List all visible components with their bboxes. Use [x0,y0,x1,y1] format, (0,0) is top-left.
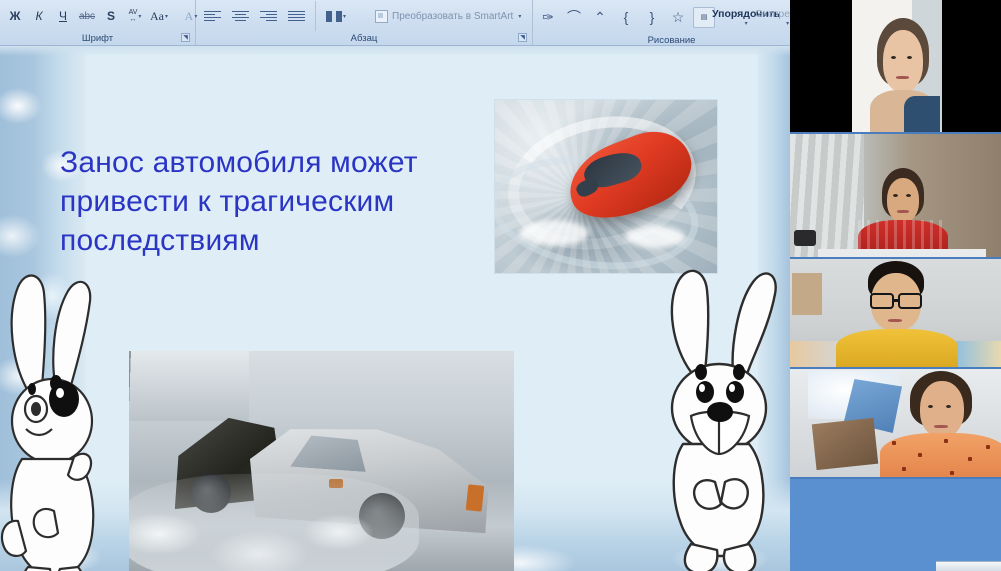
chevron-down-icon: ▾ [138,13,141,20]
video-tile-participant-4[interactable] [790,369,1001,479]
video-tile-participant-2[interactable] [790,134,1001,259]
powerpoint-ribbon: Ж К Ч abc S AV↔ ▾ Aa ▾ [0,0,810,46]
photo-crashed-car-in-snow[interactable] [129,351,514,571]
justify-button[interactable] [284,6,309,27]
right-brace-shape-button[interactable]: } [641,7,663,28]
arc-shape-icon: ⌃ [594,10,606,24]
participant-3-glasses-bridge [894,299,898,302]
align-center-icon [232,10,249,23]
participant-4-eye-left [928,405,933,408]
tile2-dark-object [794,230,816,246]
convert-to-smartart-label: Преобразовать в SmartArt [392,11,513,22]
tile3-furniture [792,273,822,315]
participant-2-mouth [897,210,909,213]
taskbar-strip[interactable] [936,561,1001,571]
ribbon-group-paragraph: ▾ Преобразовать в SmartArt ▾ Абзац ◥ [196,0,533,46]
video-tile-participant-3[interactable] [790,259,1001,369]
participant-2-eye-left [893,194,898,197]
participant-2-face [887,178,919,222]
scribble-shape-button[interactable]: ✑ [537,7,559,28]
arc-shape-button[interactable]: ⌃ [589,7,611,28]
columns-button[interactable]: ▾ [322,6,350,27]
tile4-cardboard-box [812,418,878,470]
snow-spray-1 [519,220,589,246]
curve-shape-button[interactable]: ⌒ [563,7,585,28]
italic-button[interactable]: К [28,6,50,27]
ribbon-group-drawing: ✑ ⌒ ⌃ { } ☆ [533,0,810,46]
participant-4-shirt-dots [880,433,1001,479]
participant-3-yellow-shirt [836,329,958,369]
bold-button[interactable]: Ж [4,6,26,27]
participant-1-shirt [904,96,940,134]
bunny-smiling-right [655,268,783,571]
participant-3-mouth [888,319,902,322]
bunny-thinking-illustration [0,271,108,571]
drawing-toolbar: ✑ ⌒ ⌃ { } ☆ [533,0,810,34]
participant-4-face [920,381,964,437]
video-tile-participant-1[interactable] [790,0,1001,134]
video-conference-panel [790,0,1001,571]
scribble-shape-icon: ✑ [542,10,554,24]
columns-icon [326,10,342,23]
participant-2-eye-right [906,194,911,197]
participant-4-eye-right [946,405,951,408]
justify-icon [288,10,305,23]
font-dialog-launcher-icon[interactable]: ◥ [181,33,190,42]
curve-shape-icon: ⌒ [567,10,581,24]
ribbon-group-label-font: Шрифт ◥ [0,32,195,46]
bunny-thinking-left [0,271,108,571]
ribbon-group-label-drawing: Рисование [533,34,810,46]
slide-title-line-1: Занос автомобиля может [60,143,480,182]
participant-1-eye-left [891,56,896,59]
participant-3-avatar [854,261,940,369]
align-left-icon [204,10,221,23]
ribbon-group-label-paragraph: Абзац ◥ [196,32,532,46]
underline-button[interactable]: Ч [52,6,74,27]
slide-canvas[interactable]: Занос автомобиля может привести к трагич… [0,46,790,571]
character-spacing-button[interactable]: AV↔ ▾ [124,6,146,27]
paragraph-toolbar: ▾ Преобразовать в SmartArt ▾ [196,0,532,32]
participant-3-glasses-left-lens [870,293,894,309]
left-brace-shape-button[interactable]: { [615,7,637,28]
chevron-down-icon: ▾ [165,13,168,20]
participant-4-avatar [902,371,998,479]
snow-foreground [129,474,419,571]
ribbon-group-font: Ж К Ч abc S AV↔ ▾ Aa ▾ [0,0,196,46]
star-shape-icon: ☆ [672,10,685,24]
participant-1-avatar [874,18,932,134]
video-panel-empty-area [790,479,1001,571]
participant-1-face [883,30,923,92]
character-spacing-icon: AV↔ [129,9,138,23]
left-brace-shape-icon: { [624,10,629,24]
align-right-icon [260,10,277,23]
car-tail-light [466,484,485,512]
change-case-button[interactable]: Aa ▾ [148,6,170,27]
smartart-icon [375,10,388,23]
participant-3-glasses-right-lens [898,293,922,309]
align-left-button[interactable] [200,6,225,27]
font-format-toolbar: Ж К Ч abc S AV↔ ▾ Aa ▾ [0,0,195,32]
participant-1-mouth [896,76,909,79]
align-right-button[interactable] [256,6,281,27]
participant-1-eye-right [907,56,912,59]
toolbar-divider [315,1,316,31]
participant-2-avatar [868,168,938,259]
bunny-smiling-illustration [655,268,783,571]
slide-title-line-2: привести к трагическим [60,182,480,221]
chevron-down-icon: ▾ [786,20,789,27]
photo-car-skidding-on-ice[interactable] [494,99,718,274]
convert-to-smartart-button[interactable]: Преобразовать в SmartArt ▾ [371,6,525,27]
slide-title-line-3: последствиям [60,221,480,260]
align-center-button[interactable] [228,6,253,27]
chevron-down-icon: ▾ [745,20,748,27]
star-shape-button[interactable]: ☆ [667,7,689,28]
snow-spray-2 [625,226,685,248]
participant-2-laptop [818,249,986,257]
right-brace-shape-icon: } [650,10,655,24]
slide-title-textbox[interactable]: Занос автомобиля может привести к трагич… [60,143,480,260]
text-shadow-button[interactable]: S [100,6,122,27]
chevron-down-icon: ▾ [343,13,346,20]
screen-root: Ж К Ч abc S AV↔ ▾ Aa ▾ [0,0,1001,571]
chevron-down-icon: ▾ [518,13,521,20]
participant-4-mouth [934,425,948,428]
more-shapes-icon: ▤ [701,14,708,21]
strikethrough-button[interactable]: abc [76,6,98,27]
paragraph-dialog-launcher-icon[interactable]: ◥ [518,33,527,42]
